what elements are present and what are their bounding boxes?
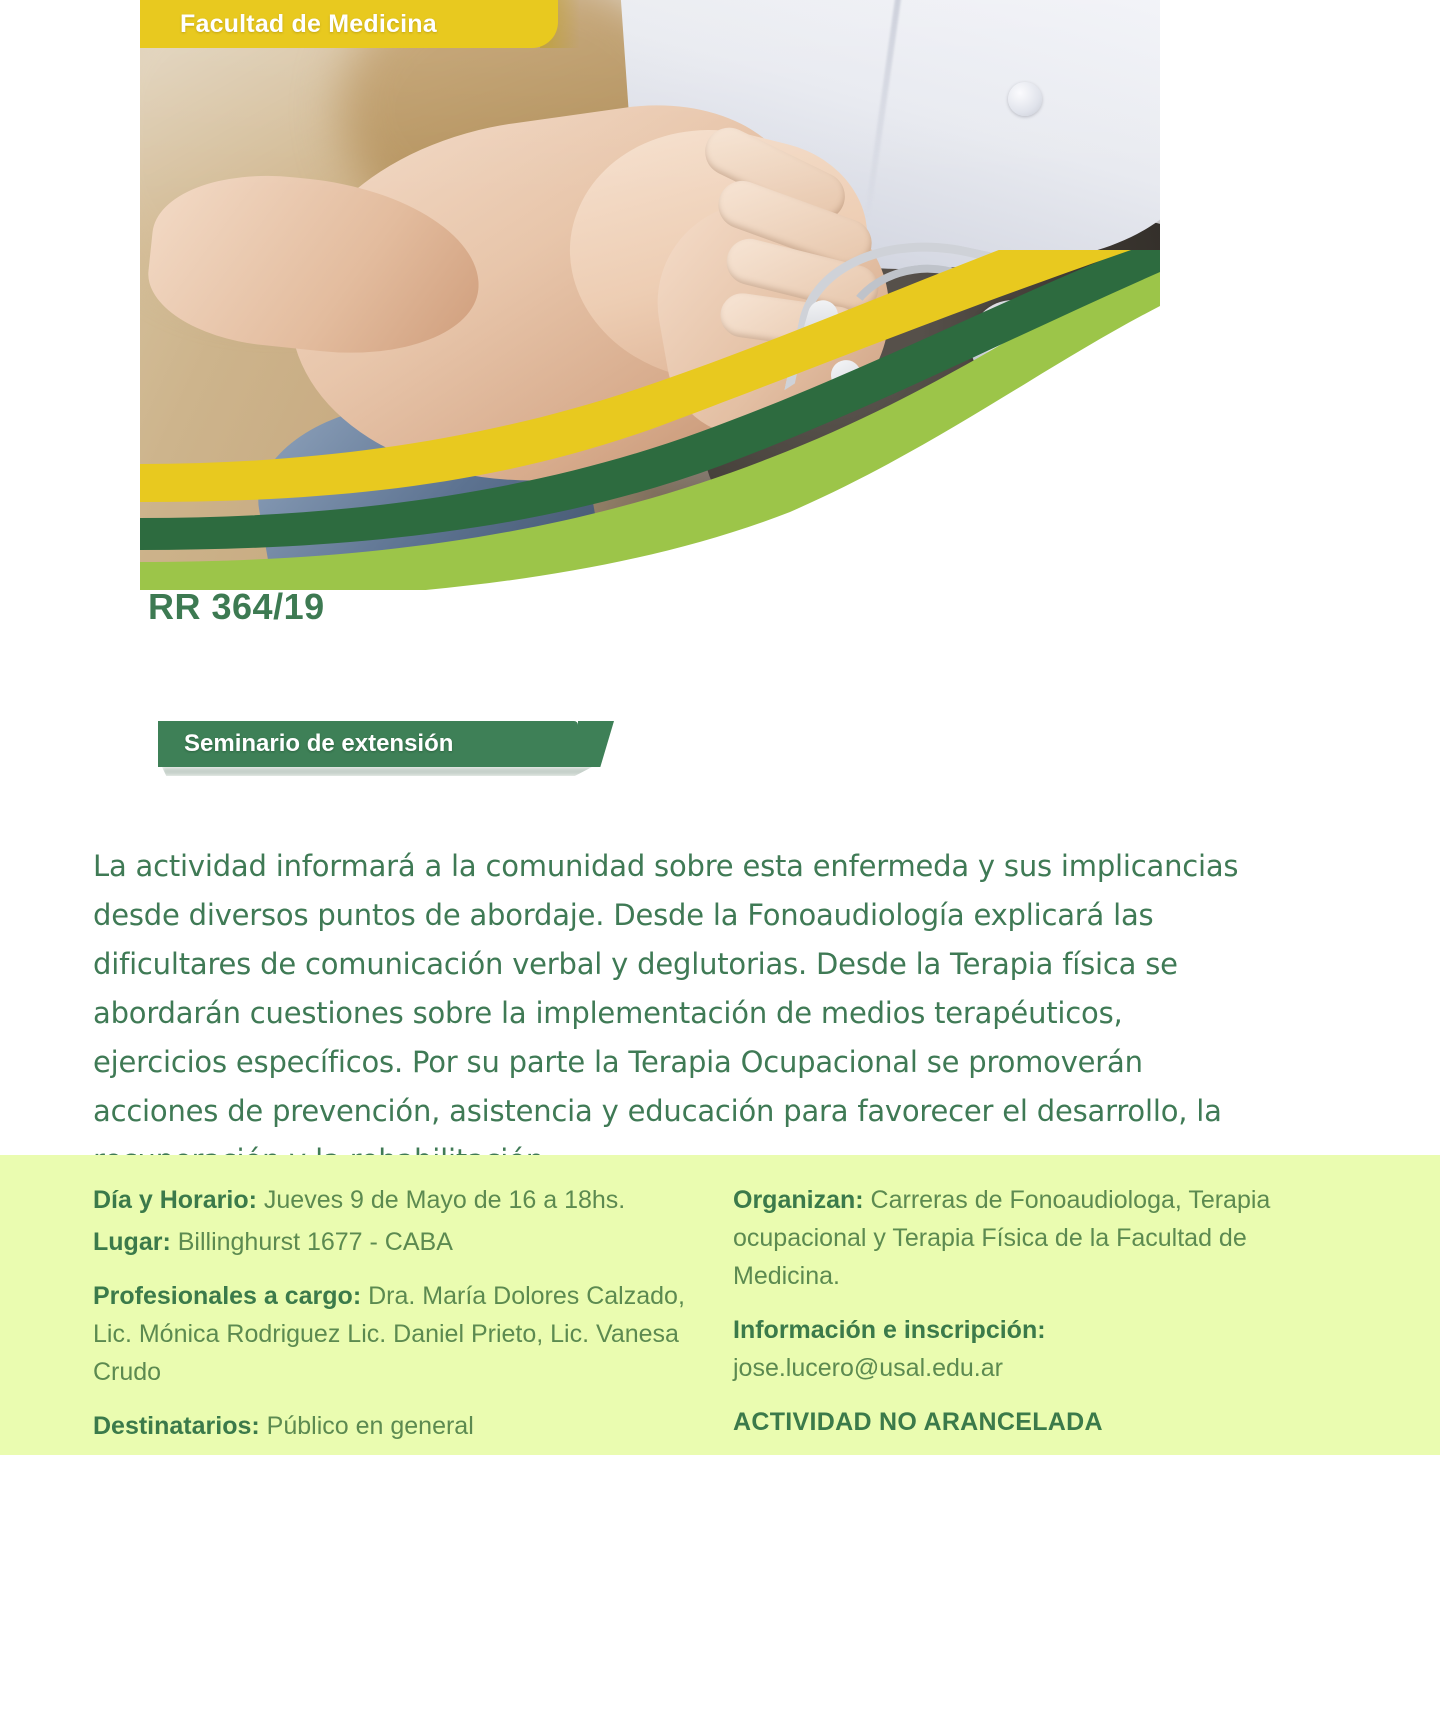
info-key: Información e inscripción:	[733, 1316, 1046, 1344]
badge-tip	[578, 721, 614, 767]
info-value: Jueves 9 de Mayo de 16 a 18hs.	[264, 1186, 625, 1214]
info-key: Día y Horario:	[93, 1186, 257, 1214]
info-row-organizan: Organizan: Carreras de Fonoaudiologa, Te…	[733, 1181, 1293, 1295]
resolution-code: RR 364/19	[148, 586, 325, 628]
info-key: Destinatarios:	[93, 1412, 260, 1440]
wave-graphic	[140, 250, 1160, 590]
info-key: Lugar:	[93, 1228, 171, 1256]
info-key: Organizan:	[733, 1186, 864, 1214]
seminar-badge-label: Seminario de extensión	[184, 730, 453, 758]
poster: Facultad de Medicina RR 364/19 Seminario…	[0, 0, 1440, 1728]
info-row-destinatarios: Destinatarios: Público en general	[93, 1407, 693, 1445]
info-column-right: Organizan: Carreras de Fonoaudiologa, Te…	[733, 1181, 1293, 1445]
description-block: La actividad informará a la comunidad so…	[93, 842, 1253, 1185]
photo-coat-seam	[864, 0, 906, 221]
info-value: Público en general	[267, 1412, 474, 1440]
badge-shadow	[162, 767, 592, 776]
info-row-dia: Día y Horario: Jueves 9 de Mayo de 16 a …	[93, 1181, 693, 1219]
info-value: Billinghurst 1677 - CABA	[178, 1228, 453, 1256]
info-row-lugar: Lugar: Billinghurst 1677 - CABA	[93, 1223, 693, 1261]
description-paragraph: La actividad informará a la comunidad so…	[93, 842, 1253, 1185]
free-activity-notice: ACTIVIDAD NO ARANCELADA	[733, 1403, 1293, 1441]
info-panel: Día y Horario: Jueves 9 de Mayo de 16 a …	[0, 1155, 1440, 1455]
faculty-tab-label: Facultad de Medicina	[180, 10, 437, 39]
info-value[interactable]: jose.lucero@usal.edu.ar	[733, 1354, 1003, 1382]
seminar-badge: Seminario de extensión	[158, 721, 578, 767]
info-key: Profesionales a cargo:	[93, 1282, 361, 1310]
info-row-inscripcion: Información e inscripción: jose.lucero@u…	[733, 1311, 1293, 1387]
faculty-tab: Facultad de Medicina	[140, 0, 558, 48]
photo-coat-button	[1008, 82, 1042, 116]
info-column-left: Día y Horario: Jueves 9 de Mayo de 16 a …	[93, 1181, 693, 1449]
footer: Viví la vida Viví USAL #USALIZATE f	[0, 1455, 1440, 1728]
info-row-profesionales: Profesionales a cargo: Dra. María Dolore…	[93, 1277, 693, 1391]
